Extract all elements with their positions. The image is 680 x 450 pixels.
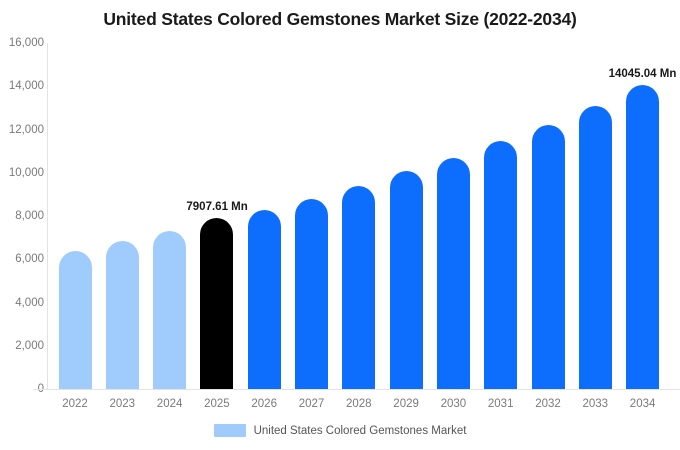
x-axis-tick-label: 2026 bbox=[241, 398, 288, 410]
value-label-2034: 14045.04 Mn bbox=[609, 68, 677, 80]
x-axis-tick-label: 2034 bbox=[619, 398, 666, 410]
x-axis-tick-label: 2022 bbox=[52, 398, 99, 410]
bar-2028[interactable] bbox=[342, 186, 375, 389]
bar-2023[interactable] bbox=[106, 241, 139, 389]
bar-2029[interactable] bbox=[390, 171, 423, 389]
chart-legend[interactable]: United States Colored Gemstones Market bbox=[0, 424, 680, 437]
y-axis-tick-label: 16,000 bbox=[2, 37, 44, 49]
chart-title: United States Colored Gemstones Market S… bbox=[0, 9, 680, 30]
bar-2024[interactable] bbox=[153, 231, 186, 389]
bar-2033[interactable] bbox=[579, 106, 612, 389]
y-axis-tick-label: 2,000 bbox=[2, 340, 44, 352]
bar-2025[interactable] bbox=[200, 218, 233, 389]
bar-2022[interactable] bbox=[59, 251, 92, 389]
bar-2027[interactable] bbox=[295, 199, 328, 389]
x-axis-tick-label: 2029 bbox=[383, 398, 430, 410]
bar-2032[interactable] bbox=[532, 125, 565, 389]
y-axis-tick-label: 6,000 bbox=[2, 253, 44, 265]
x-axis-tick-label: 2023 bbox=[99, 398, 146, 410]
bar-chart: United States Colored Gemstones Market S… bbox=[0, 0, 680, 450]
legend-label: United States Colored Gemstones Market bbox=[254, 425, 467, 437]
x-axis-tick-label: 2031 bbox=[477, 398, 524, 410]
y-axis-tick-label: 12,000 bbox=[2, 124, 44, 136]
x-axis-tick-label: 2028 bbox=[335, 398, 382, 410]
x-axis-tick-label: 2030 bbox=[430, 398, 477, 410]
x-axis-tick-label: 2024 bbox=[146, 398, 193, 410]
y-axis-tick-label: 8,000 bbox=[2, 210, 44, 222]
bar-2026[interactable] bbox=[248, 210, 281, 389]
y-axis-tick-label: 4,000 bbox=[2, 297, 44, 309]
y-axis: 02,0004,0006,0008,00010,00012,00014,0001… bbox=[0, 0, 44, 450]
x-axis-tick-label: 2027 bbox=[288, 398, 335, 410]
bar-2031[interactable] bbox=[484, 141, 517, 389]
x-axis-tick-label: 2033 bbox=[572, 398, 619, 410]
value-label-2025: 7907.61 Mn bbox=[186, 201, 247, 213]
y-axis-tick-label: 10,000 bbox=[2, 167, 44, 179]
x-axis-line bbox=[33, 389, 680, 390]
y-axis-tick-label: 14,000 bbox=[2, 80, 44, 92]
x-axis-tick-label: 2025 bbox=[193, 398, 240, 410]
x-axis-tick-label: 2032 bbox=[525, 398, 572, 410]
bar-2034[interactable] bbox=[626, 85, 659, 389]
legend-swatch bbox=[214, 424, 246, 437]
plot-area bbox=[48, 43, 680, 389]
bar-2030[interactable] bbox=[437, 158, 470, 389]
